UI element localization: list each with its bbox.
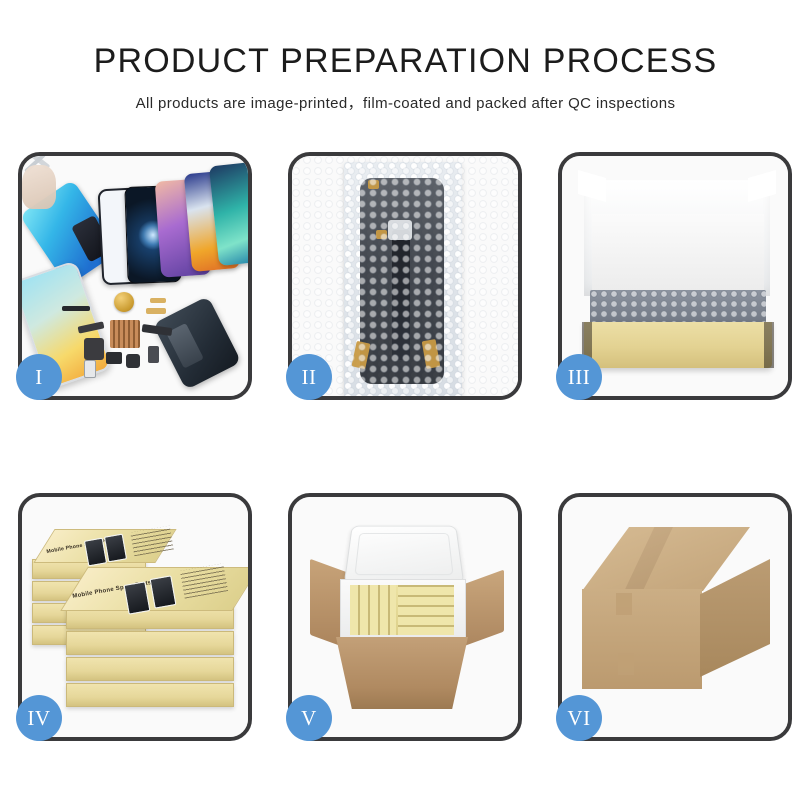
step-panel-3: III — [558, 152, 792, 400]
box-stack: Mobile Phone Spare Parts Mobile Phone Sp… — [30, 511, 248, 731]
stacked-box-f4 — [66, 683, 234, 707]
sim-tray-icon — [84, 360, 96, 378]
step-badge-4: IV — [16, 695, 62, 741]
bubble-wrap-fill-icon — [590, 290, 766, 326]
gold-boxes-inside-icon — [350, 585, 454, 635]
box-foam-liner-icon — [592, 214, 764, 292]
step-badge-1: I — [16, 354, 62, 400]
battery-part-icon — [148, 346, 159, 363]
carton-left-face-icon — [582, 589, 702, 689]
gold-component-icon — [114, 292, 134, 312]
flex-cable-2-icon — [84, 338, 104, 360]
stacked-box-f3 — [66, 657, 234, 681]
carton-seal-1-icon — [616, 593, 632, 615]
speaker-strip-icon — [62, 306, 90, 311]
product-preparation-infographic: PRODUCT PREPARATION PROCESS All products… — [0, 0, 811, 811]
copper-chip-icon — [110, 320, 140, 348]
gold-connector-1-icon — [146, 308, 166, 314]
carton-seal-2-icon — [618, 653, 634, 675]
step-panel-4: Mobile Phone Spare Parts Mobile Phone Sp… — [18, 493, 252, 741]
step-3-image — [562, 156, 788, 396]
process-steps-grid: I II III — [18, 152, 793, 741]
step-panel-6: VI — [558, 493, 792, 741]
step-badge-5: V — [286, 695, 332, 741]
lcd-flex-cable-icon — [392, 230, 410, 360]
carton-front-icon — [336, 637, 468, 709]
step-panel-5: V — [288, 493, 522, 741]
step-panel-1: I — [18, 152, 252, 400]
lcd-connector-icon — [388, 220, 412, 240]
step-badge-6: VI — [556, 695, 602, 741]
step-6-image — [562, 497, 788, 737]
gold-tab-3-icon — [368, 180, 379, 189]
step-5-image — [292, 497, 518, 737]
gold-box-front-icon — [584, 322, 772, 368]
page-title: PRODUCT PREPARATION PROCESS — [0, 44, 811, 80]
stacked-box-f2 — [66, 631, 234, 655]
step-badge-3: III — [556, 354, 602, 400]
gold-connector-2-icon — [150, 298, 166, 303]
step-2-image — [292, 156, 518, 396]
step-panel-2: II — [288, 152, 522, 400]
step-badge-2: II — [286, 354, 332, 400]
hand-icon — [22, 165, 56, 209]
page-subtitle: All products are image-printed，film-coat… — [0, 92, 811, 113]
gold-tab-4-icon — [376, 230, 387, 239]
camera-module-1-icon — [106, 352, 122, 364]
foam-lid-icon — [344, 526, 465, 585]
step-1-image — [22, 156, 248, 396]
header: PRODUCT PREPARATION PROCESS All products… — [0, 0, 811, 113]
step-4-image: Mobile Phone Spare Parts Mobile Phone Sp… — [22, 497, 248, 737]
camera-module-2-icon — [126, 354, 140, 368]
